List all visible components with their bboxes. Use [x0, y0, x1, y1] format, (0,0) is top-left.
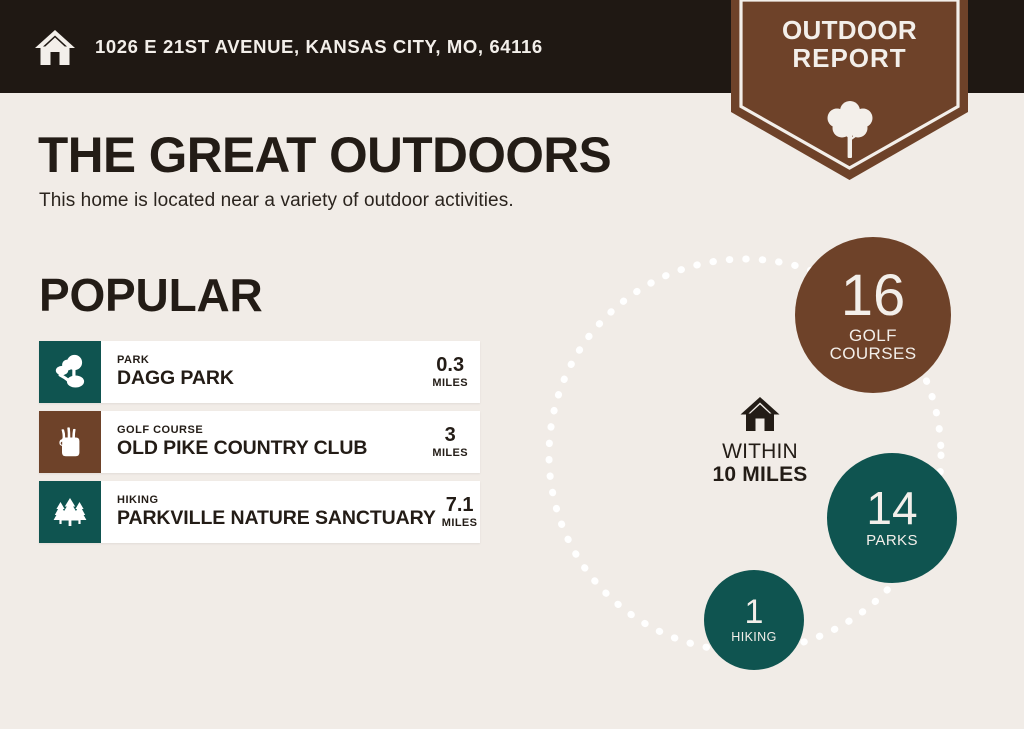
list-item[interactable]: GOLF COURSE OLD PIKE COUNTRY CLUB 3 MILE…	[39, 411, 480, 473]
home-icon	[680, 396, 840, 432]
bubble-count: 16	[841, 268, 906, 323]
list-item-distance-value: 0.3	[432, 355, 468, 375]
list-item-texts: PARK DAGG PARK	[117, 355, 234, 389]
list-item-body: HIKING PARKVILLE NATURE SANCTUARY 7.1 MI…	[101, 481, 489, 543]
diagram-center-label: WITHIN 10 MILES	[680, 396, 840, 486]
list-item-distance-unit: MILES	[432, 378, 468, 389]
golf-bag-icon	[39, 411, 101, 473]
list-item-distance-value: 3	[432, 425, 468, 445]
list-item-body: PARK DAGG PARK 0.3 MILES	[101, 341, 480, 403]
badge-title-line1: OUTDOOR	[731, 16, 968, 44]
list-item-name: DAGG PARK	[117, 369, 234, 389]
page-subtitle: This home is located near a variety of o…	[39, 190, 514, 212]
home-icon	[33, 25, 77, 69]
bubble-hiking[interactable]: 1 HIKING	[704, 570, 804, 670]
pine-trees-icon	[39, 481, 101, 543]
bubble-label-line1: GOLF	[830, 327, 917, 345]
list-item-name: PARKVILLE NATURE SANCTUARY	[117, 509, 436, 529]
address-text: 1026 E 21ST AVENUE, KANSAS CITY, MO, 641…	[95, 36, 543, 58]
page-title: THE GREAT OUTDOORS	[38, 126, 611, 184]
list-item-category: HIKING	[117, 495, 436, 506]
list-item-body: GOLF COURSE OLD PIKE COUNTRY CLUB 3 MILE…	[101, 411, 480, 473]
bubble-count: 1	[745, 596, 764, 628]
bubble-label: PARKS	[866, 533, 918, 549]
bubble-count: 14	[866, 487, 917, 531]
list-item-distance: 3 MILES	[426, 425, 468, 459]
list-item-name: OLD PIKE COUNTRY CLUB	[117, 439, 367, 459]
park-trees-icon	[39, 341, 101, 403]
badge-title-line2: REPORT	[731, 44, 968, 72]
bubble-label-line2: COURSES	[830, 345, 917, 363]
list-item-texts: HIKING PARKVILLE NATURE SANCTUARY	[117, 495, 436, 529]
center-label-line2: 10 MILES	[680, 464, 840, 487]
list-item[interactable]: PARK DAGG PARK 0.3 MILES	[39, 341, 480, 403]
bubble-golf-courses[interactable]: 16 GOLF COURSES	[795, 237, 951, 393]
list-item-distance-unit: MILES	[432, 448, 468, 459]
outdoor-report-page: 1026 E 21ST AVENUE, KANSAS CITY, MO, 641…	[0, 0, 1024, 729]
header-content: 1026 E 21ST AVENUE, KANSAS CITY, MO, 641…	[33, 0, 543, 93]
tree-icon	[731, 97, 968, 159]
bubble-parks[interactable]: 14 PARKS	[827, 453, 957, 583]
bubble-label: HIKING	[731, 631, 776, 644]
list-item-distance-value: 7.1	[442, 495, 478, 515]
list-item-distance: 7.1 MILES	[436, 495, 478, 529]
outdoor-report-badge: OUTDOOR REPORT	[731, 0, 968, 180]
list-item-distance: 0.3 MILES	[426, 355, 468, 389]
proximity-diagram: WITHIN 10 MILES 16 GOLF COURSES 14 PARKS…	[520, 210, 1024, 710]
list-item-category: PARK	[117, 355, 234, 366]
list-item[interactable]: HIKING PARKVILLE NATURE SANCTUARY 7.1 MI…	[39, 481, 480, 543]
list-item-texts: GOLF COURSE OLD PIKE COUNTRY CLUB	[117, 425, 367, 459]
section-heading-popular: POPULAR	[39, 268, 263, 322]
bubble-label: GOLF COURSES	[830, 327, 917, 363]
center-label-line1: WITHIN	[680, 441, 840, 464]
list-item-category: GOLF COURSE	[117, 425, 367, 436]
popular-list: PARK DAGG PARK 0.3 MILES	[39, 341, 480, 551]
badge-title: OUTDOOR REPORT	[731, 16, 968, 72]
list-item-distance-unit: MILES	[442, 518, 478, 529]
